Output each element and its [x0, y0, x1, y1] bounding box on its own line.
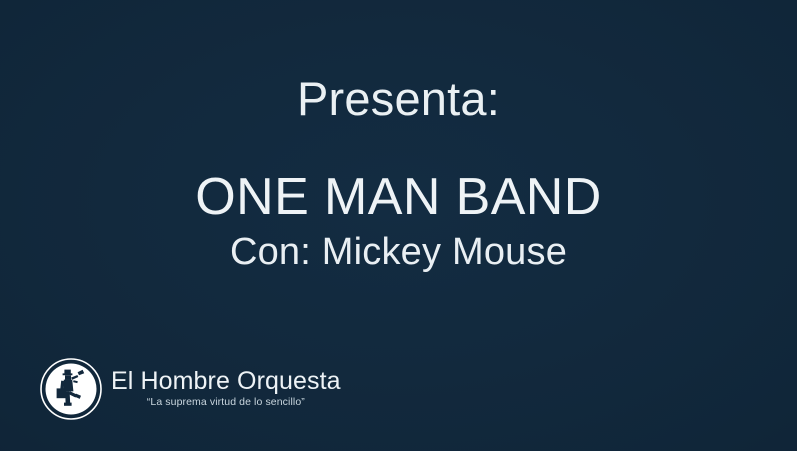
brand-tagline: “La suprema virtud de lo sencillo” [111, 396, 341, 409]
title-block: Presenta: ONE MAN BAND Con: Mickey Mouse [0, 74, 797, 274]
film-title: ONE MAN BAND [0, 170, 797, 225]
brand-logo-text: El Hombre Orquesta “La suprema virtud de… [111, 368, 341, 411]
title-slide: Presenta: ONE MAN BAND Con: Mickey Mouse [0, 0, 797, 451]
title-spacer [0, 124, 797, 170]
film-byline: Con: Mickey Mouse [0, 232, 797, 274]
presenta-label: Presenta: [0, 74, 797, 124]
one-man-band-musician-circle-logo-icon [40, 358, 102, 420]
brand-wordmark: El Hombre Orquesta [111, 368, 341, 394]
brand-logo-lockup: El Hombre Orquesta “La suprema virtud de… [40, 358, 341, 420]
